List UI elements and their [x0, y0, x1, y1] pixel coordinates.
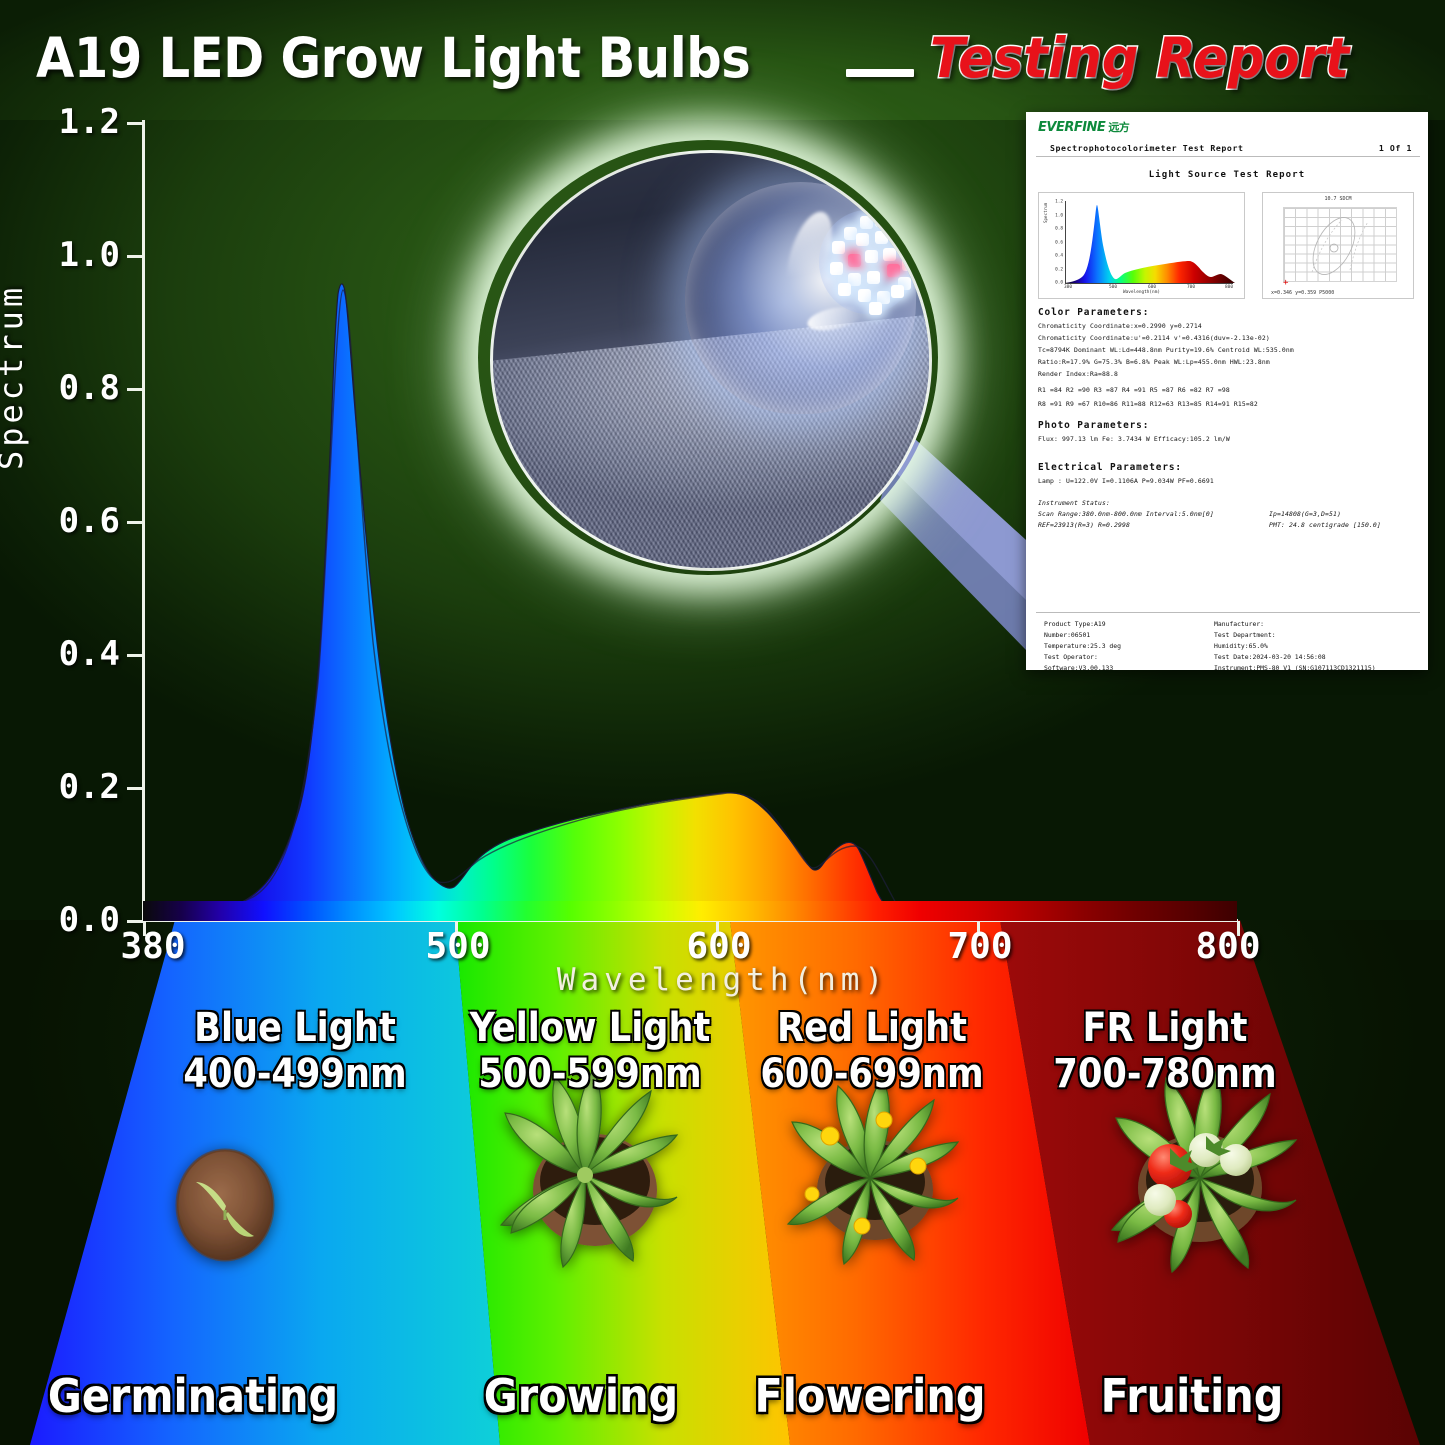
- band-name-blue: Blue Light: [150, 1005, 440, 1051]
- render-index-row-2: R8 =91 R9 =67 R10=86 R11=88 R12=63 R13=8…: [1038, 400, 1258, 408]
- mini-y-label-4: 0.4: [1055, 254, 1063, 259]
- title-row: A19 LED Grow Light Bulbs Testing Report: [36, 26, 1426, 91]
- band-label-red: Red Light 600-699nm: [727, 1005, 1017, 1097]
- mini-y-label-2: 0.8: [1055, 227, 1063, 232]
- report-footer-rule: [1036, 612, 1420, 613]
- color-line-0: Chromaticity Coordinate:x=0.2990 y=0.271…: [1038, 322, 1202, 330]
- poster-canvas: A19 LED Grow Light Bulbs Testing Report: [0, 0, 1445, 1445]
- color-line-4: Render Index:Ra=88.8: [1038, 370, 1118, 378]
- spectral-color-strip: [143, 901, 1237, 921]
- report-header-row: Spectrophotocolorimeter Test Report 1 Of…: [1050, 143, 1412, 153]
- band-name-yellow: Yellow Light: [445, 1005, 735, 1051]
- y-tick-1: [127, 787, 143, 790]
- footer-left-0: Product Type:A19: [1044, 620, 1106, 628]
- report-doc-title: Light Source Test Report: [1026, 170, 1428, 180]
- band-label-blue: Blue Light 400-499nm: [150, 1005, 440, 1097]
- title-separator-dash: [846, 69, 914, 77]
- cie-marker-icon: +: [1283, 280, 1288, 286]
- spectrum-fan: Germinating Growing Flowering Fruiting: [0, 920, 1445, 1445]
- mini-y-label-5: 0.2: [1055, 268, 1063, 273]
- y-tick-label-4: 0.8: [59, 368, 120, 408]
- page-title: A19 LED Grow Light Bulbs: [36, 26, 750, 90]
- footer-left-4: Software:V3.00.133: [1044, 664, 1113, 670]
- mini-x-label-0: 380: [1064, 285, 1072, 290]
- mini-y-label-3: 0.6: [1055, 241, 1063, 246]
- band-label-yellow: Yellow Light 500-599nm: [445, 1005, 735, 1097]
- color-line-2: Tc=8794K Dominant WL:Ld=448.8nm Purity=1…: [1038, 346, 1294, 354]
- y-tick-label-3: 0.6: [59, 501, 120, 541]
- mini-y-axis-title: Spectrum: [1043, 203, 1048, 223]
- photo-line: Flux: 997.13 lm Fe: 3.7434 W Efficacy:10…: [1038, 435, 1230, 443]
- footer-left-2: Temperature:25.3 deg: [1044, 642, 1121, 650]
- footer-right-3: Test Date:2024-03-20 14:56:08: [1214, 653, 1326, 661]
- y-axis-title: Spectrum: [0, 284, 30, 470]
- x-tick-label-380: 380: [120, 926, 185, 967]
- stage-label-growing: Growing: [428, 1369, 734, 1423]
- y-tick-2: [127, 654, 143, 657]
- plant-fruiting: [1112, 1070, 1296, 1272]
- cie-footer: x=0.346 y=0.359 P5000: [1271, 290, 1334, 296]
- mini-y-label-0: 1.2: [1055, 200, 1063, 205]
- bulb-circle-photo: [490, 150, 932, 571]
- everfine-logo: EVERFINE远方: [1038, 119, 1129, 135]
- page-header: A19 LED Grow Light Bulbs Testing Report: [0, 14, 1445, 94]
- report-cie-diagram: 10.7 SDCM + x=0.346 y=0.359 P5000: [1262, 192, 1414, 299]
- plant-illustrations: [0, 920, 1445, 1445]
- plant-germinating: [177, 1150, 273, 1260]
- y-tick-label-5: 1.0: [59, 235, 120, 275]
- y-tick-3: [127, 521, 143, 524]
- instrument-line-0: Scan Range:380.0nm-800.0nm Interval:5.0n…: [1038, 510, 1214, 518]
- footer-right-4: Instrument:PMS-80_V1 (SN:G107113CD132111…: [1214, 664, 1376, 670]
- plant-flowering: [788, 1078, 958, 1264]
- band-range-fr: 700-780nm: [1020, 1051, 1310, 1097]
- electrical-line: Lamp : U=122.0V I=0.1106A P=9.034W PF=0.…: [1038, 477, 1214, 485]
- band-name-red: Red Light: [727, 1005, 1017, 1051]
- x-tick-label-600: 600: [686, 926, 751, 967]
- bulb-glass-body: [685, 182, 916, 414]
- mini-x-label-1: 500: [1109, 285, 1117, 290]
- led-board: [819, 210, 916, 315]
- y-tick-label-6: 1.2: [59, 102, 120, 142]
- mini-spectrum-plot: [1065, 201, 1235, 284]
- footer-left-1: Number:06501: [1044, 631, 1090, 639]
- section-electrical-parameters: Electrical Parameters:: [1038, 462, 1182, 473]
- x-tick-label-500: 500: [425, 926, 490, 967]
- report-header-rule: [1036, 156, 1420, 157]
- footer-right-2: Humidity:65.0%: [1214, 642, 1268, 650]
- everfine-logo-text: EVERFINE: [1038, 120, 1105, 135]
- y-tick-label-1: 0.2: [59, 767, 120, 807]
- instrument-right-0: Ip=14808(G=3,D=51): [1269, 510, 1341, 518]
- y-tick-label-0: 0.0: [59, 900, 120, 940]
- mini-x-axis-title: Wavelength(nm): [1039, 290, 1244, 295]
- color-line-1: Chromaticity Coordinate:u'=0.2114 v'=0.4…: [1038, 334, 1270, 342]
- instrument-line-1: REF=23913(R=3) R=0.2998: [1038, 521, 1130, 529]
- plant-growing: [501, 1070, 677, 1267]
- band-range-yellow: 500-599nm: [445, 1051, 735, 1097]
- mini-y-label-1: 1.0: [1055, 214, 1063, 219]
- section-instrument-status: Instrument Status:: [1038, 499, 1110, 507]
- x-tick-label-700: 700: [947, 926, 1012, 967]
- mini-x-label-2: 600: [1148, 285, 1156, 290]
- y-tick-5: [127, 255, 143, 258]
- render-index-row-1: R1 =84 R2 =90 R3 =87 R4 =91 R5 =87 R6 =8…: [1038, 386, 1230, 394]
- report-header-left: Spectrophotocolorimeter Test Report: [1050, 143, 1244, 153]
- y-tick-0: [127, 920, 143, 923]
- everfine-logo-cn: 远方: [1108, 121, 1129, 134]
- test-report-document: EVERFINE远方 Spectrophotocolorimeter Test …: [1026, 112, 1428, 670]
- cie-title: 10.7 SDCM: [1263, 196, 1413, 202]
- y-tick-label-2: 0.4: [59, 634, 120, 674]
- cie-curves: [1284, 208, 1396, 281]
- section-photo-parameters: Photo Parameters:: [1038, 420, 1149, 431]
- stage-label-fruiting: Fruiting: [1039, 1369, 1345, 1423]
- x-axis-title: Wavelength(nm): [0, 962, 1445, 998]
- y-tick-4: [127, 388, 143, 391]
- y-tick-6: [127, 122, 143, 125]
- mini-x-label-4: 800: [1225, 285, 1233, 290]
- footer-left-3: Test Operator:: [1044, 653, 1098, 661]
- band-name-fr: FR Light: [1020, 1005, 1310, 1051]
- footer-right-0: Manufacturer:: [1214, 620, 1264, 628]
- mini-y-label-6: 0.0: [1055, 281, 1063, 286]
- instrument-right-1: PMT: 24.8 centigrade [150.0]: [1269, 521, 1381, 529]
- stage-label-germinating: Germinating: [40, 1369, 346, 1423]
- band-range-red: 600-699nm: [727, 1051, 1017, 1097]
- report-mini-spectrum-chart: Spectrum Wavelength(nm) 1.2 1.0 0.8 0.6 …: [1038, 192, 1245, 299]
- footer-right-1: Test Department:: [1214, 631, 1276, 639]
- report-header-right: 1 Of 1: [1379, 143, 1412, 153]
- stage-label-flowering: Flowering: [717, 1369, 1023, 1423]
- band-range-blue: 400-499nm: [150, 1051, 440, 1097]
- section-color-parameters: Color Parameters:: [1038, 307, 1149, 318]
- title-accent: Testing Report: [930, 26, 1349, 90]
- bulb-photo-inset: [478, 140, 938, 575]
- band-label-fr: FR Light 700-780nm: [1020, 1005, 1310, 1097]
- cie-grid: [1283, 207, 1397, 282]
- color-line-3: Ratio:R=17.9% G=75.3% B=6.8% Peak WL:Lp=…: [1038, 358, 1270, 366]
- x-tick-label-800: 800: [1195, 926, 1260, 967]
- mini-x-label-3: 700: [1187, 285, 1195, 290]
